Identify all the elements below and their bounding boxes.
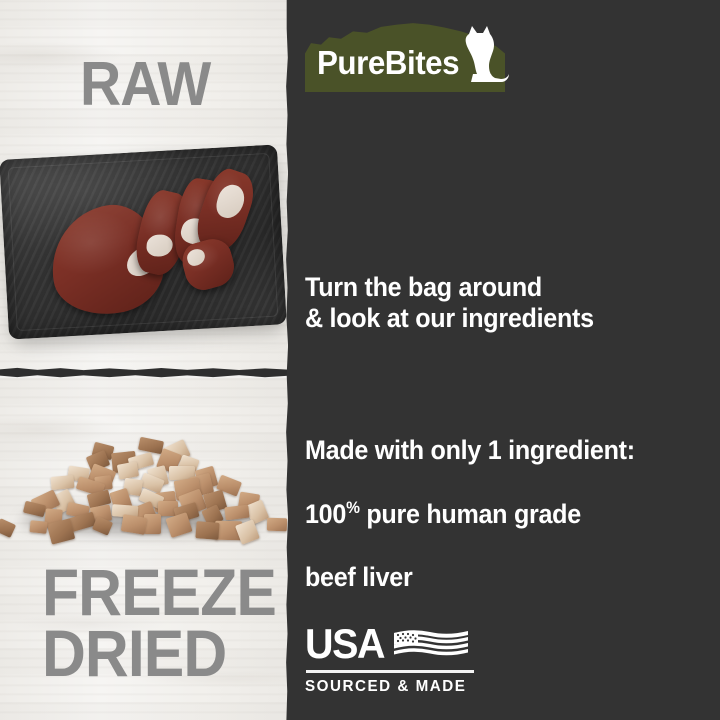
headline-turn-the-bag: Turn the bag around & look at our ingred… [305,272,594,335]
percent-symbol: % [346,498,360,517]
raw-liver-photo [0,140,288,355]
headline-line-3: beef liver [305,562,412,592]
freeze-dried-photo [0,410,288,540]
freeze-dried-cube [144,514,161,534]
freeze-dried-cube [267,518,288,532]
liver-lobe [43,198,171,323]
freeze-dried-cube [138,437,164,454]
liver-slice [171,176,228,268]
liver-slice [178,235,239,294]
headline-line-1: Made with only 1 ingredient: [305,435,635,465]
headline-percent-value: 100 [305,499,346,529]
usa-sourced-made-badge: USA [305,621,480,696]
headline-ingredient: Made with only 1 ingredient: 100% pure h… [305,404,635,593]
freeze-dried-label: FREEZE DRIED [42,562,276,683]
right-content-panel: PureBites Turn the bag around & look at … [288,0,720,720]
logo-wordmark: PureBites [317,44,459,82]
freeze-dried-cube [50,475,74,491]
freeze-dried-cube [195,521,219,539]
left-photo-column: RAW FREEZE DRIED [0,0,288,720]
usa-subtitle: SOURCED & MADE [305,678,471,696]
cat-silhouette-icon [449,24,511,90]
usa-wordmark: USA [305,623,384,665]
liver-slice [190,164,260,256]
liver-slice [131,187,194,279]
product-infographic: RAW FREEZE DRIED PureBites [0,0,720,720]
freeze-dried-cube [0,518,16,538]
usa-flag-icon [392,627,470,661]
slate-serving-board [0,144,287,339]
usa-divider-rule [306,670,474,673]
purebites-logo: PureBites [305,18,505,92]
freeze-dried-cube [30,521,48,535]
raw-label: RAW [80,56,210,113]
headline-line-2-rest: pure human grade [360,499,581,529]
freeze-dried-cube [121,514,148,534]
